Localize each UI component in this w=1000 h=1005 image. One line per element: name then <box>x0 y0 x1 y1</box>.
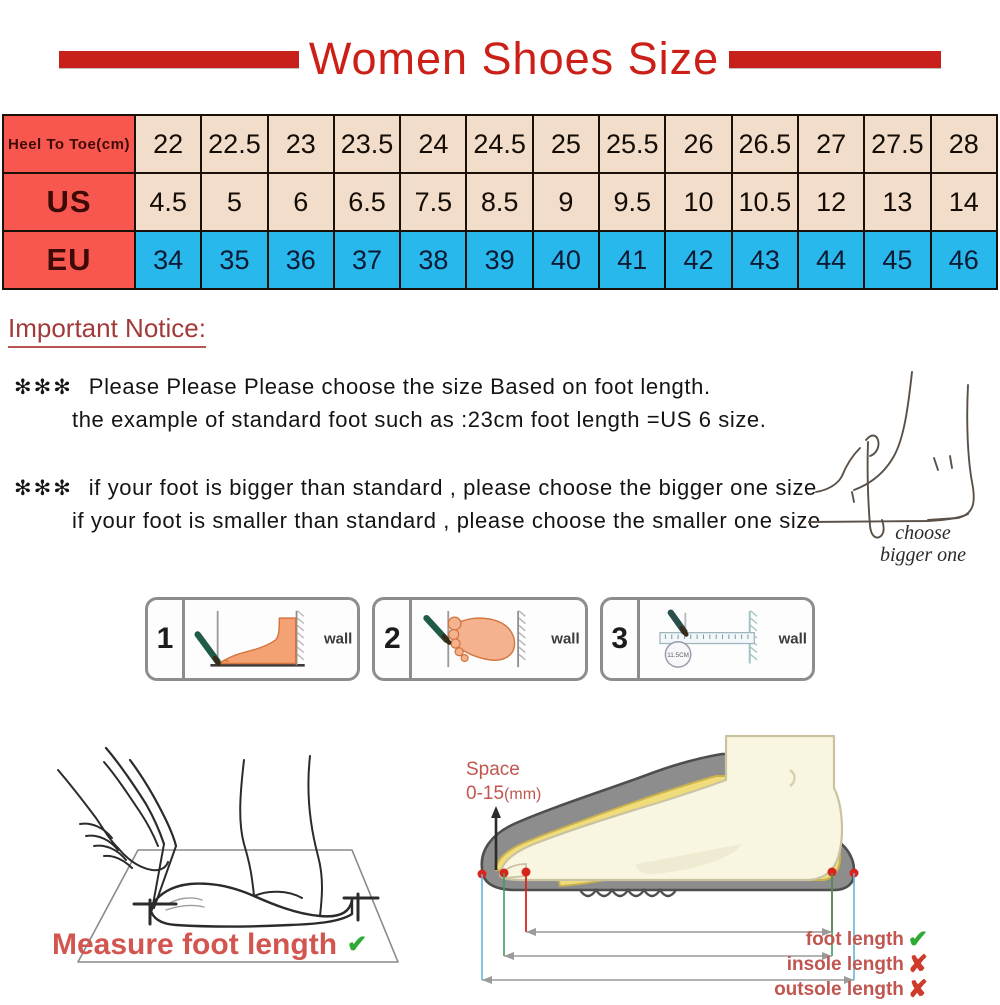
table-row-us: US 4.5 5 6 6.5 7.5 8.5 9 9.5 10 10.5 12 … <box>3 173 997 231</box>
cell-eu-2: 36 <box>268 231 334 289</box>
cell-cm-5: 24.5 <box>466 115 532 173</box>
choose-bigger-caption: choose bigger one <box>858 522 988 567</box>
cell-us-8: 10 <box>665 173 731 231</box>
cell-cm-11: 27.5 <box>864 115 930 173</box>
legend-row-outsole-length: outsole length ✘ <box>608 978 928 1002</box>
cell-eu-3: 37 <box>334 231 400 289</box>
cell-cm-4: 24 <box>400 115 466 173</box>
row-header-heel-to-toe: Heel To Toe(cm) <box>3 115 135 173</box>
step-3-reading: 11.5CM <box>667 652 689 659</box>
step-panel-3: 3 <box>600 597 815 681</box>
shoe-cross-section-panel: Space 0-15(mm) foot length ✔ insole leng… <box>430 718 1000 1000</box>
step-2-wall-label: wall <box>551 631 579 648</box>
cell-us-10: 12 <box>798 173 864 231</box>
cell-us-6: 9 <box>533 173 599 231</box>
cell-eu-12: 46 <box>931 231 997 289</box>
outsole-length-label: outsole length <box>774 979 904 1001</box>
cell-eu-0: 34 <box>135 231 201 289</box>
cell-us-4: 7.5 <box>400 173 466 231</box>
cell-cm-12: 28 <box>931 115 997 173</box>
cell-cm-8: 26 <box>665 115 731 173</box>
cell-us-1: 5 <box>201 173 267 231</box>
step-1-wall-label: wall <box>324 631 352 648</box>
space-label-line1: Space <box>466 758 541 782</box>
size-chart-table: Heel To Toe(cm) 22 22.5 23 23.5 24 24.5 … <box>2 114 998 290</box>
step-number-1: 1 <box>148 600 185 678</box>
page-title-bar: Women Shoes Size <box>0 30 1000 88</box>
title-rule-right <box>729 51 941 68</box>
cell-us-5: 8.5 <box>466 173 532 231</box>
cell-us-9: 10.5 <box>732 173 798 231</box>
cell-eu-10: 44 <box>798 231 864 289</box>
measurement-steps: 1 <box>145 597 815 681</box>
cell-eu-6: 40 <box>533 231 599 289</box>
cell-eu-4: 38 <box>400 231 466 289</box>
measure-check-icon: ✔ <box>347 933 367 957</box>
insole-length-cross-icon: ✘ <box>908 953 928 977</box>
foot-length-check-icon: ✔ <box>908 928 928 952</box>
cell-cm-3: 23.5 <box>334 115 400 173</box>
notice-line-4: if your foot is smaller than standard , … <box>72 508 821 534</box>
cell-eu-5: 39 <box>466 231 532 289</box>
choose-bigger-line2: bigger one <box>858 544 988 566</box>
notice-line-1: ✻✻✻Please Please Please choose the size … <box>14 374 711 400</box>
choose-bigger-line1: choose <box>858 522 988 544</box>
step-1-illustration: wall <box>185 600 357 678</box>
notice-line-2: the example of standard foot such as :23… <box>72 407 766 433</box>
step-2-illustration: wall <box>412 600 584 678</box>
cell-eu-1: 35 <box>201 231 267 289</box>
cell-cm-10: 27 <box>798 115 864 173</box>
cell-eu-8: 42 <box>665 231 731 289</box>
space-label-value: 0-15 <box>466 783 504 804</box>
cell-us-11: 13 <box>864 173 930 231</box>
foot-length-label: foot length <box>806 929 904 951</box>
space-label-unit: (mm) <box>504 786 541 803</box>
notice-stars-1: ✻✻✻ <box>14 376 73 399</box>
page-title: Women Shoes Size <box>299 33 729 85</box>
cell-eu-7: 41 <box>599 231 665 289</box>
table-row-heel-to-toe: Heel To Toe(cm) 22 22.5 23 23.5 24 24.5 … <box>3 115 997 173</box>
notice-text-1: Please Please Please choose the size Bas… <box>89 374 711 399</box>
notice-text-3: if your foot is bigger than standard , p… <box>89 475 817 500</box>
measure-label-text: Measure foot length <box>52 928 337 962</box>
row-header-eu: EU <box>3 231 135 289</box>
outsole-length-cross-icon: ✘ <box>908 978 928 1002</box>
step-number-3: 3 <box>603 600 640 678</box>
legend-row-insole-length: insole length ✘ <box>608 953 928 977</box>
cell-us-2: 6 <box>268 173 334 231</box>
cell-us-0: 4.5 <box>135 173 201 231</box>
insole-length-label: insole length <box>787 954 904 976</box>
title-rule-left <box>59 51 299 68</box>
legend-row-foot-length: foot length ✔ <box>608 928 928 952</box>
step-number-2: 2 <box>375 600 412 678</box>
measure-foot-length-label: Measure foot length ✔ <box>52 928 367 962</box>
step-3-wall-label: wall <box>779 631 807 648</box>
cell-cm-1: 22.5 <box>201 115 267 173</box>
table-row-eu: EU 34 35 36 37 38 39 40 41 42 43 44 45 4… <box>3 231 997 289</box>
measure-foot-length-panel: Measure foot length ✔ <box>0 718 430 1000</box>
cell-cm-2: 23 <box>268 115 334 173</box>
row-header-us: US <box>3 173 135 231</box>
cell-cm-6: 25 <box>533 115 599 173</box>
notice-stars-2: ✻✻✻ <box>14 477 73 500</box>
cell-cm-9: 26.5 <box>732 115 798 173</box>
cell-us-12: 14 <box>931 173 997 231</box>
cell-cm-0: 22 <box>135 115 201 173</box>
cell-eu-9: 43 <box>732 231 798 289</box>
step-panel-1: 1 <box>145 597 360 681</box>
notice-heading: Important Notice: <box>8 313 206 348</box>
space-gap-label: Space 0-15(mm) <box>466 758 541 807</box>
space-label-line2-wrap: 0-15(mm) <box>466 782 541 806</box>
cell-eu-11: 45 <box>864 231 930 289</box>
cell-cm-7: 25.5 <box>599 115 665 173</box>
cell-us-7: 9.5 <box>599 173 665 231</box>
length-legend: foot length ✔ insole length ✘ outsole le… <box>608 928 928 1002</box>
step-panel-2: 2 <box>372 597 587 681</box>
cell-us-3: 6.5 <box>334 173 400 231</box>
step-3-illustration: 11.5CM wall <box>640 600 812 678</box>
notice-line-3: ✻✻✻if your foot is bigger than standard … <box>14 475 817 501</box>
